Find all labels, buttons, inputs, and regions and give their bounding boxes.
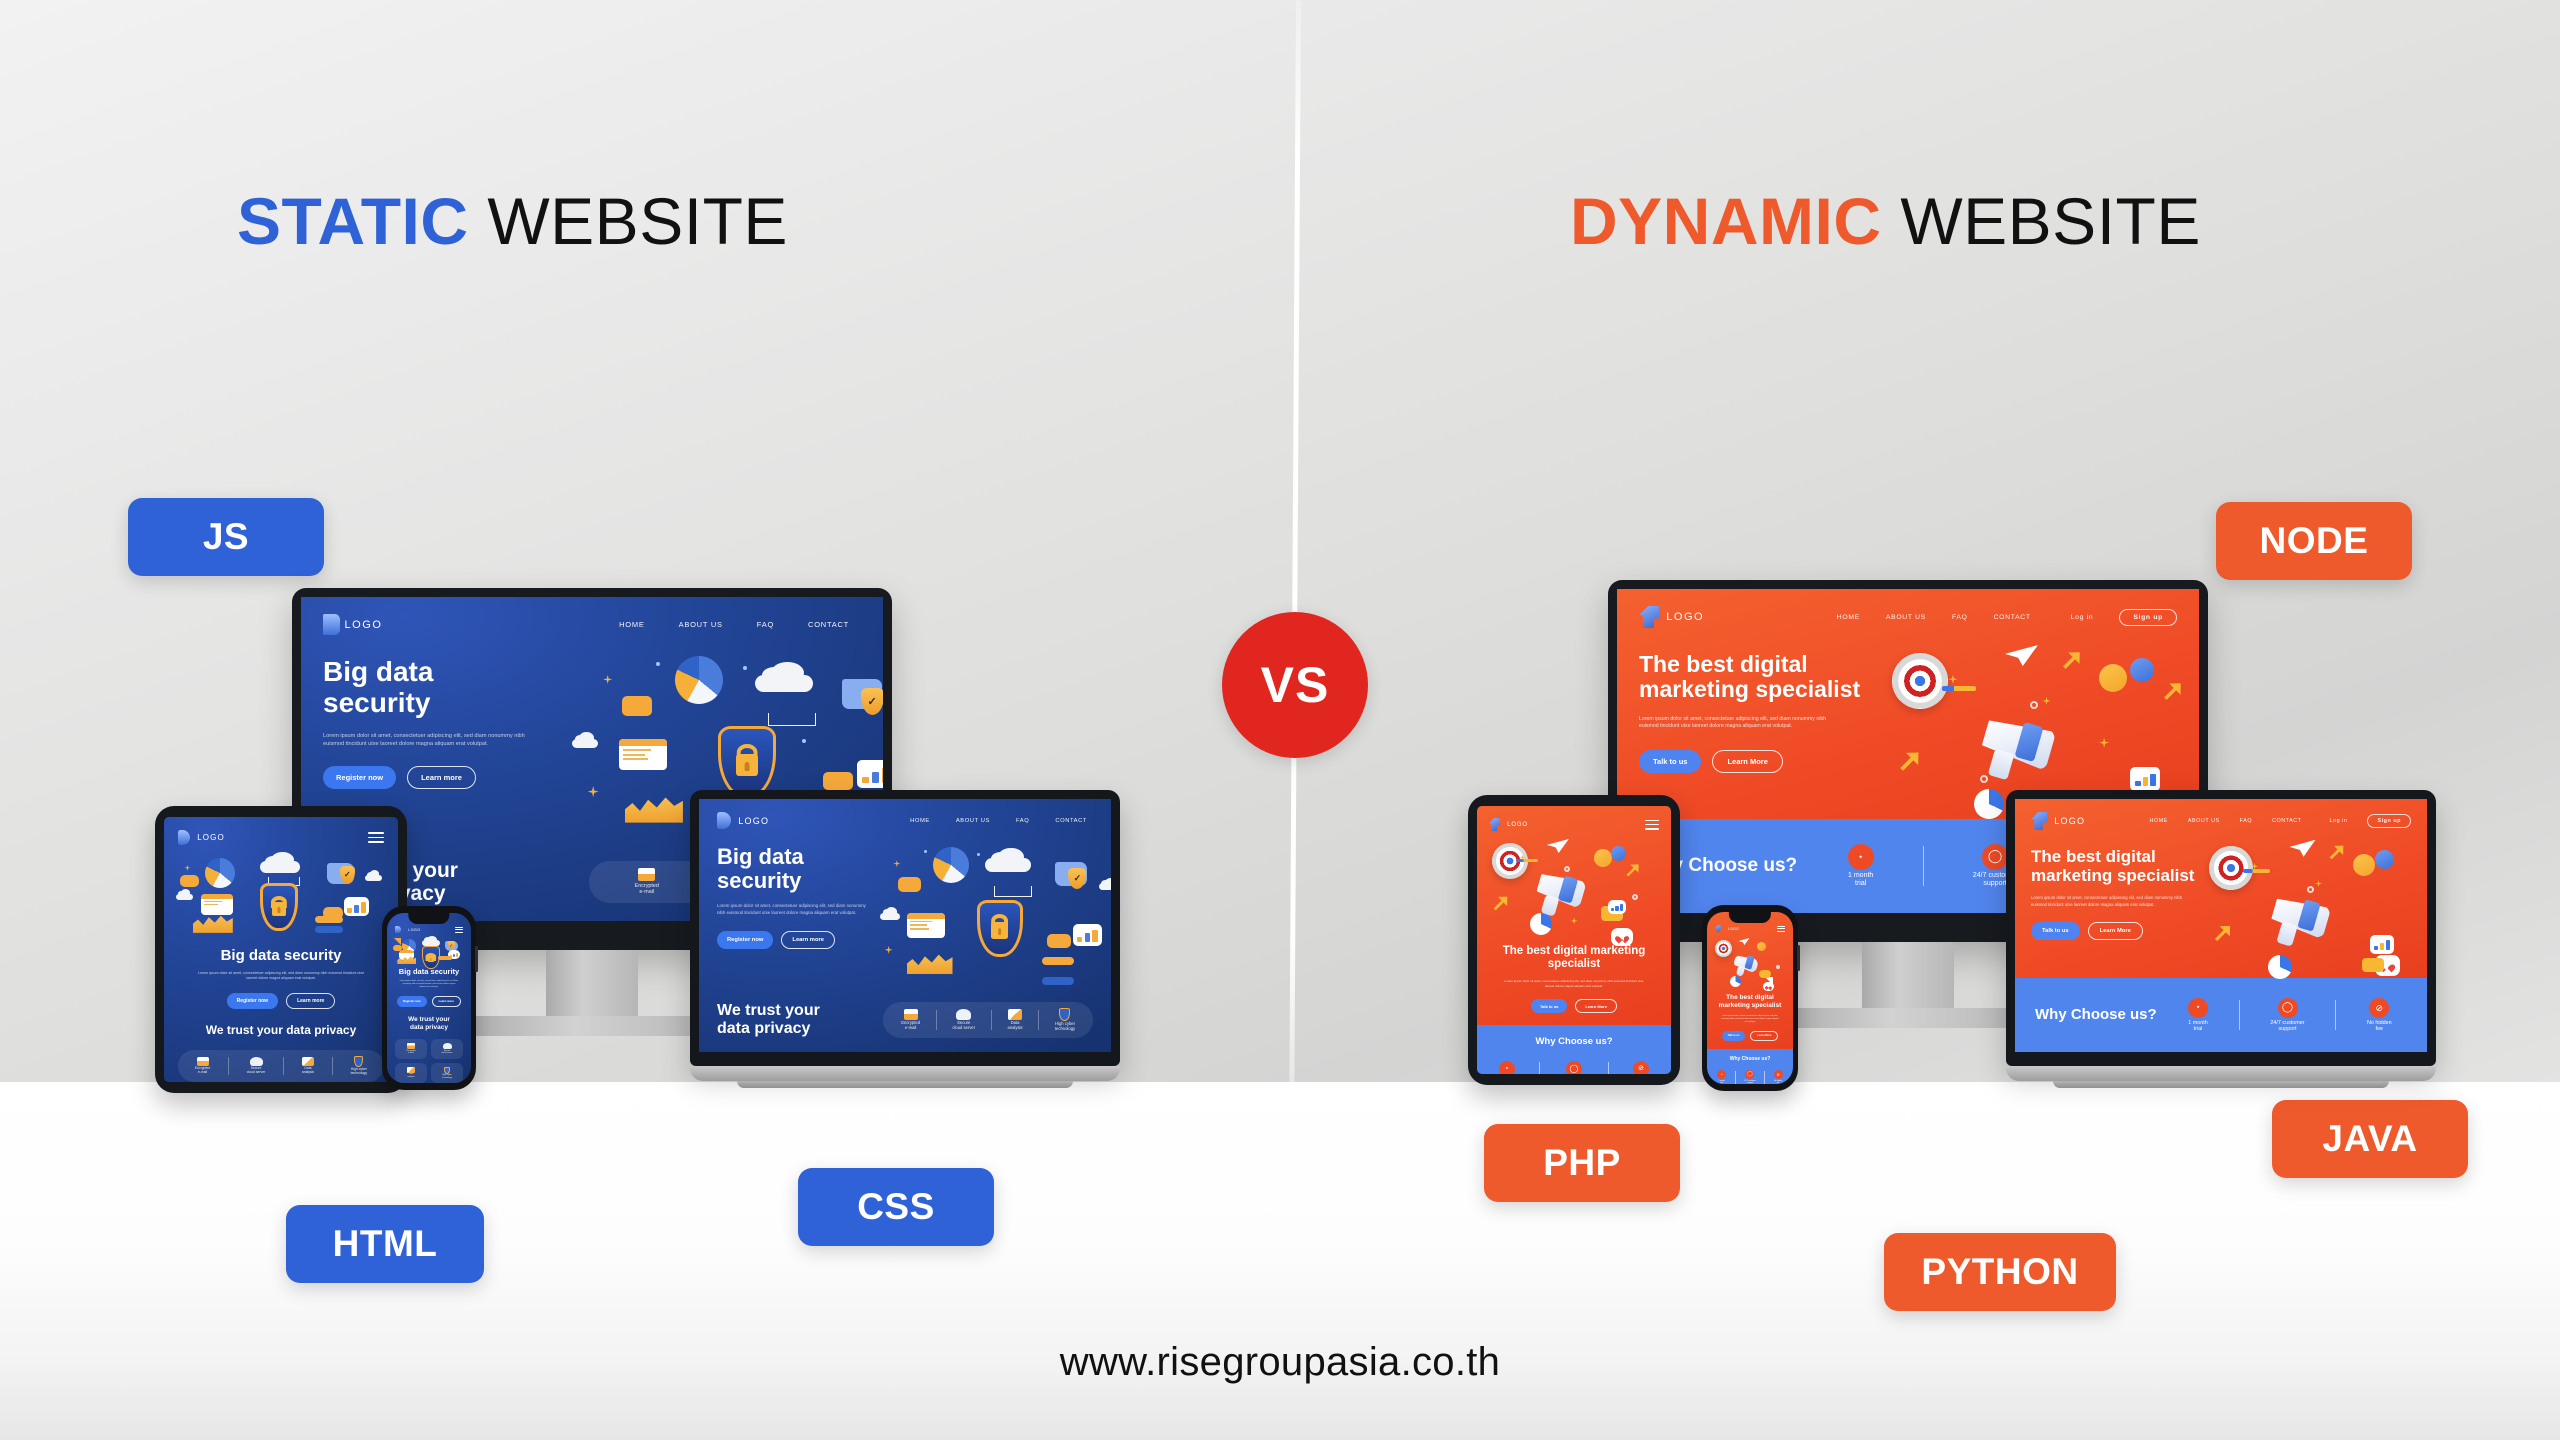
sub-headline: We trust your data privacy (717, 1002, 867, 1037)
hero-headline-line2: security (323, 688, 563, 719)
nav-item-faq[interactable]: FAQ (2240, 818, 2252, 824)
paper-plane-icon (1547, 839, 1569, 853)
feature-separator (991, 1010, 992, 1031)
chat-bubble-icon (180, 875, 199, 887)
nav-item-about-us[interactable]: ABOUT US (679, 620, 723, 629)
bar-chart-icon (1608, 900, 1626, 914)
arrow-icon-3 (2209, 919, 2237, 947)
hero-headline: The best digital marketing specialist (2031, 848, 2205, 885)
brand-logo[interactable]: LOGO (717, 812, 769, 829)
static-tablet-screen[interactable]: LOGO ✓ (164, 817, 398, 1082)
dynamic-desktop-nav: LOGO HOME ABOUT US FAQ CONTACT Log in Si… (1617, 589, 2199, 628)
no-fee-icon: ⊘ (2369, 998, 2389, 1018)
tech-pill-python[interactable]: PYTHON (1884, 1233, 2116, 1311)
infographic-stage: STATIC WEBSITE DYNAMIC WEBSITE VS JS HTM… (0, 0, 2560, 1440)
feature-customer-support-line2: support (1983, 880, 2006, 887)
tech-pill-php-label: PHP (1543, 1142, 1621, 1184)
cloud-icon (260, 861, 300, 873)
cta-talk-to-us-label: Talk to us (1540, 1004, 1558, 1009)
cta-learn-more[interactable]: Learn more (286, 993, 335, 1009)
static-laptop-hero-copy: Big data security Lorem ipsum dolor sit … (699, 829, 880, 1002)
feature-high-cyber-technology: High cybertechnology (351, 1056, 367, 1076)
phone-side-button[interactable] (1797, 945, 1800, 971)
headset-icon: ◯ (1566, 1061, 1582, 1074)
static-desktop-nav: LOGO HOME ABOUT US FAQ CONTACT (301, 597, 883, 635)
chat-bubble-yellow-icon (1757, 942, 1766, 951)
dot-icon-2 (977, 853, 980, 856)
target-dartboard-icon (1892, 653, 1948, 709)
feature-high-cyber-technology-line2: technology (351, 1071, 367, 1075)
hero-headline: Big data security (717, 845, 880, 893)
sparkle-icon-1 (603, 675, 612, 684)
cloud-icon (985, 858, 1031, 872)
paper-plane-icon (1738, 938, 1749, 945)
logo-arrow-icon (1639, 606, 1659, 628)
feature-one-month-trial-line2: trial (2194, 1026, 2203, 1032)
headset-icon: ◯ (2278, 998, 2298, 1018)
page-title-static-rest: WEBSITE (469, 184, 788, 258)
arrow-icon-1 (2057, 644, 2088, 675)
tech-pill-python-label: PYTHON (1921, 1251, 2078, 1293)
laptop-lid: LOGO HOME ABOUT US FAQ CONTACT Big dat (690, 790, 1120, 1066)
tech-pill-java[interactable]: JAVA (2272, 1100, 2468, 1178)
heart-icon (1617, 933, 1627, 941)
hamburger-menu-icon[interactable] (1645, 820, 1659, 830)
logo-text: LOGO (1666, 611, 1704, 623)
nav-signup-label: Sign up (2377, 818, 2401, 824)
nav-item-home[interactable]: HOME (2150, 818, 2168, 824)
static-desktop-nav-links: HOME ABOUT US FAQ CONTACT (619, 620, 861, 629)
envelope-icon (2362, 958, 2384, 972)
megaphone-icon (1967, 712, 2059, 784)
brand-logo[interactable]: LOGO (1715, 925, 1739, 932)
big-data-security-illustration: ✓ (176, 853, 386, 938)
phone-frame: LOGO (1702, 905, 1798, 1091)
cloud-server-icon (956, 1009, 971, 1020)
chat-bubble-yellow-icon (2353, 854, 2375, 876)
chart-card-icon (1073, 924, 1102, 946)
logo-text: LOGO (738, 816, 769, 826)
lock-shield-icon (260, 883, 298, 931)
big-data-security-illustration: ✓ (393, 938, 465, 962)
megaphone-icon (1526, 868, 1588, 918)
sub-headline: We trust your data privacy (164, 1024, 398, 1037)
chat-bubble-right-icon (1047, 934, 1071, 948)
cta-talk-to-us[interactable]: Talk to us (1531, 999, 1567, 1013)
dynamic-laptop-nav-links: HOME ABOUT US FAQ CONTACT Log in Sign up (2150, 814, 2411, 828)
laptop-lid: LOGO HOME ABOUT US FAQ CONTACT Log in Si… (2006, 790, 2436, 1066)
server-rack-icon-1 (438, 956, 452, 960)
hero-paragraph: Lorem ipsum dolor sit amet, consectetuer… (399, 980, 459, 989)
feature-high-cyber-technology: High cybertechnology (431, 1063, 463, 1083)
feature-encrypted-email-line1: Encrypted (635, 883, 659, 889)
chat-bubble-yellow-icon (1594, 849, 1612, 867)
hero-paragraph: Lorem ipsum dolor sit amet, consectetuer… (1639, 716, 1845, 732)
hero-headline-line2: marketing specialist (2031, 867, 2205, 886)
nav-item-faq[interactable]: FAQ (1952, 614, 1968, 621)
tablet-frame: LOGO (1468, 795, 1680, 1085)
hamburger-menu-icon[interactable] (368, 832, 384, 843)
brand-logo[interactable]: LOGO (178, 830, 225, 845)
cta-learn-more[interactable]: Learn more (407, 766, 476, 789)
hero-headline: Big data security (323, 657, 563, 719)
arrow-icon-3 (1489, 890, 1514, 915)
feature-data-analysis: Dataanalysis (302, 1057, 314, 1075)
ring-icon-2 (1980, 775, 1988, 783)
cta-register-now-label: Register now (237, 998, 268, 1004)
chat-bubble-right-icon (823, 772, 853, 790)
static-laptop-nav: LOGO HOME ABOUT US FAQ CONTACT (699, 799, 1111, 829)
dart-icon (2243, 869, 2270, 873)
feature-separator (2335, 1000, 2336, 1031)
nav-item-contact[interactable]: CONTACT (1055, 818, 1087, 824)
feature-secure-cloud-server-line2: cloud server (442, 1052, 453, 1054)
cta-learn-more-label: Learn more (792, 937, 824, 943)
logo-text: LOGO (1507, 822, 1528, 828)
hero-paragraph: Lorem ipsum dolor sit amet, consectetuer… (1503, 979, 1645, 988)
nav-item-home[interactable]: HOME (1837, 614, 1860, 621)
why-choose-us-heading: Why Choose us? (2035, 1007, 2157, 1024)
pie-chart-icon (675, 656, 723, 704)
static-phone-page: LOGO ✓ (387, 913, 471, 1083)
tech-pill-html[interactable]: HTML (286, 1205, 484, 1283)
cta-talk-to-us-label: Talk to us (1728, 1034, 1740, 1037)
shield-check-icon: ✓ (861, 688, 883, 715)
feature-separator (1608, 1062, 1609, 1074)
feature-customer-support-line1: 24/7 customer (2270, 1020, 2304, 1026)
dynamic-laptop-page: LOGO HOME ABOUT US FAQ CONTACT Log in Si… (2015, 799, 2427, 1052)
cta-register-now-label: Register now (336, 773, 383, 782)
sub-headline-line1: We trust your (387, 1016, 471, 1024)
cta-register-now[interactable]: Register now (397, 996, 427, 1007)
vs-badge: VS (1222, 612, 1368, 758)
cta-learn-more[interactable]: Learn More (1750, 1031, 1778, 1041)
tech-pill-php[interactable]: PHP (1484, 1124, 1680, 1202)
nav-signup-button[interactable]: Sign up (2367, 814, 2411, 828)
dynamic-phone: LOGO (1702, 905, 1798, 1091)
server-rack-icon-2 (1042, 977, 1074, 985)
dynamic-desktop-hero-copy: The best digital marketing specialist Lo… (1617, 628, 1873, 819)
window-card-icon (619, 739, 667, 770)
bar-chart-icon (1073, 924, 1102, 946)
big-data-security-illustration: ✓ (880, 837, 1099, 1002)
tech-pill-node[interactable]: NODE (2216, 502, 2412, 580)
envelope-icon (407, 1043, 415, 1049)
tech-pill-html-label: HTML (333, 1223, 438, 1265)
shield-icon (444, 1067, 450, 1074)
cloud-icon (422, 940, 440, 946)
brand-logo[interactable]: LOGO (1639, 606, 1704, 628)
tech-pill-js-label: JS (203, 516, 249, 558)
monitor-neck (1862, 942, 1954, 1008)
ring-icon-1 (1776, 965, 1780, 969)
cta-register-now[interactable]: Register now (323, 766, 396, 789)
cta-learn-more-label: Learn More (1585, 1004, 1607, 1009)
arrow-icon-2 (2157, 676, 2188, 707)
static-phone: LOGO ✓ (382, 906, 476, 1090)
static-laptop-nav-links: HOME ABOUT US FAQ CONTACT (910, 818, 1093, 824)
phone-notch (408, 913, 449, 924)
tech-pill-node-label: NODE (2260, 520, 2369, 562)
phone-side-button[interactable] (475, 946, 478, 972)
brand-logo[interactable]: LOGO (2031, 812, 2085, 830)
tech-pill-css[interactable]: CSS (798, 1168, 994, 1246)
feature-separator (283, 1057, 284, 1074)
cta-learn-more[interactable]: Learn more (781, 931, 835, 949)
cta-learn-more-label: Learn More (1757, 1034, 1771, 1037)
ring-icon-1 (2307, 886, 2314, 893)
logo-d-icon (178, 830, 190, 845)
static-tablet-nav: LOGO (164, 817, 398, 845)
pie-chart-icon (933, 847, 969, 883)
pie-chart-icon (1530, 913, 1552, 935)
logo-arrow-icon (1489, 818, 1500, 831)
like-heart-card-icon (1611, 928, 1633, 946)
why-choose-us-band: Why Choose us? ★ 1 monthtrial ◯ 24/7 cus… (1707, 1049, 1793, 1084)
feature-separator (1764, 1071, 1765, 1084)
page-title-dynamic: DYNAMIC WEBSITE (1570, 183, 2201, 259)
envelope-icon (638, 868, 655, 881)
page-title-dynamic-rest: WEBSITE (1882, 184, 2201, 258)
feature-one-month-trial: ★ 1 monthtrial (2188, 998, 2208, 1032)
cta-talk-to-us-label: Talk to us (2042, 928, 2069, 934)
logo-text: LOGO (345, 619, 383, 631)
cta-learn-more[interactable]: Learn More (2088, 922, 2143, 940)
bar-chart-icon (2130, 767, 2160, 791)
feature-data-analysis: Dataanalysis (1007, 1009, 1022, 1031)
hero-paragraph: Lorem ipsum dolor sit amet, consectetuer… (323, 732, 544, 749)
why-choose-us-heading: Why Choose us? (1713, 1057, 1787, 1063)
padlock-icon (991, 922, 1008, 939)
feature-one-month-trial: ★ 1 monthtrial (1848, 844, 1874, 888)
data-analysis-icon (302, 1057, 314, 1066)
cta-register-now[interactable]: Register now (717, 931, 773, 949)
feature-customer-support: ◯ 24/7 customersupport (1744, 1070, 1755, 1084)
cta-learn-more-label: Learn More (2100, 928, 2131, 934)
sub-headline-line2: data privacy (717, 1020, 867, 1038)
bar-chart-icon (2370, 935, 2394, 954)
page-title-static: STATIC WEBSITE (237, 183, 788, 259)
tech-pill-js[interactable]: JS (128, 498, 324, 576)
dynamic-tablet-screen[interactable]: LOGO (1477, 806, 1671, 1074)
cta-register-now[interactable]: Register now (227, 993, 278, 1009)
cta-learn-more[interactable]: Learn More (1575, 999, 1617, 1013)
cta-learn-more-label: Learn more (297, 998, 324, 1004)
arrow-icon-1 (1622, 859, 1645, 882)
dynamic-laptop-hero-copy: The best digital marketing specialist Lo… (2015, 830, 2205, 978)
free-trial-badge-icon: ★ (1717, 1070, 1726, 1079)
cta-learn-more[interactable]: Learn More (1712, 750, 1782, 773)
cloud-small-icon (365, 875, 382, 881)
feature-encrypted-email-line2: e-mail (639, 889, 654, 895)
static-laptop-screen[interactable]: LOGO HOME ABOUT US FAQ CONTACT Big dat (699, 799, 1111, 1052)
window-card-icon (201, 894, 233, 915)
sparkle-icon-3 (2099, 738, 2109, 748)
cloud-left-icon (572, 739, 598, 748)
like-heart-card-icon (1763, 982, 1774, 991)
feature-one-month-trial-line2: trial (1720, 1082, 1723, 1084)
dynamic-laptop: LOGO HOME ABOUT US FAQ CONTACT Log in Si… (2006, 790, 2436, 1088)
nav-item-home[interactable]: HOME (910, 818, 930, 824)
headset-icon: ◯ (1745, 1070, 1754, 1079)
hero-headline-line1: The best digital (1639, 652, 1873, 677)
pie-chart-icon (205, 858, 235, 888)
sparkle-icon-1 (1948, 675, 1957, 684)
feature-encrypted-email-line2: e-mail (198, 1070, 207, 1074)
nav-item-contact[interactable]: CONTACT (2272, 818, 2301, 824)
chat-bubble-blue-icon (1611, 846, 1626, 861)
feature-encrypted-email-line2: e-mail (905, 1025, 916, 1030)
hero-paragraph: Lorem ipsum dolor sit amet, consectetuer… (2031, 895, 2187, 908)
static-phone-screen[interactable]: LOGO ✓ (387, 913, 471, 1083)
cta-register-now-label: Register now (403, 999, 421, 1003)
ring-icon-1 (2030, 701, 2038, 709)
laptop-base (690, 1066, 1120, 1081)
server-rack-icon-1 (315, 916, 343, 923)
envelope-icon (1759, 970, 1771, 978)
sub-headline-line2: data privacy (387, 1024, 471, 1032)
server-rack-icon-2 (315, 926, 343, 933)
cloud-left-icon (176, 894, 193, 900)
hamburger-menu-icon[interactable] (1777, 926, 1785, 932)
static-tablet-feature-strip: Encryptede-mail Securecloud server Dataa… (178, 1050, 384, 1082)
feature-separator (2239, 1000, 2240, 1031)
sparkle-icon-2 (588, 786, 599, 797)
brand-logo[interactable]: LOGO (395, 926, 421, 933)
feature-high-cyber-technology-line2: technology (442, 1077, 452, 1079)
feature-encrypted-email: Encryptede-mail (395, 1039, 427, 1058)
nav-item-home[interactable]: HOME (619, 620, 645, 629)
hero-headline-line1: Big data (717, 845, 880, 869)
nav-item-faq[interactable]: FAQ (1016, 818, 1029, 824)
dynamic-laptop-screen[interactable]: LOGO HOME ABOUT US FAQ CONTACT Log in Si… (2015, 799, 2427, 1052)
hero-headline: The best digital marketing specialist (1477, 945, 1671, 970)
data-analysis-icon (407, 1067, 415, 1073)
laptop-base-lip (2053, 1081, 2388, 1088)
feature-encrypted-email: Encryptede-mail (195, 1057, 210, 1075)
static-laptop-page: LOGO HOME ABOUT US FAQ CONTACT Big dat (699, 799, 1111, 1052)
nav-signup-button[interactable]: Sign up (2119, 609, 2177, 626)
dynamic-tablet-nav: LOGO (1477, 806, 1671, 831)
feature-data-analysis-line2: analysis (407, 1076, 414, 1078)
padlock-icon (736, 754, 758, 776)
cta-talk-to-us[interactable]: Talk to us (1722, 1031, 1746, 1041)
dynamic-phone-hero: LOGO (1707, 912, 1793, 1049)
bar-chart-icon (857, 760, 883, 788)
tablet-frame: LOGO ✓ (155, 806, 407, 1093)
feature-one-month-trial-line1: 1 month (1848, 872, 1873, 879)
free-trial-badge-icon: ★ (1499, 1061, 1515, 1074)
analytics-card-icon (2370, 935, 2394, 954)
logo-arrow-icon (1715, 925, 1721, 932)
nav-item-faq[interactable]: FAQ (757, 620, 774, 629)
heart-icon (1766, 985, 1771, 989)
nav-item-about-us[interactable]: ABOUT US (956, 818, 990, 824)
nav-item-contact[interactable]: CONTACT (1994, 614, 2031, 621)
feature-customer-support: ◯ 24/7 customersupport (2270, 998, 2304, 1032)
dynamic-tablet: LOGO (1468, 795, 1680, 1085)
hero-headline: The best digital marketing specialist (1639, 652, 1873, 703)
nav-signup-label: Sign up (2133, 614, 2163, 621)
chat-bubble-icon (898, 877, 921, 892)
dart-icon (1942, 686, 1976, 691)
feature-separator (936, 1010, 937, 1031)
feature-data-analysis-line2: analysis (1007, 1025, 1022, 1030)
phone-frame: LOGO ✓ (382, 906, 476, 1090)
area-chart-icon (907, 952, 953, 974)
server-rack-icon-1 (1042, 957, 1074, 965)
megaphone-handle (2276, 922, 2298, 948)
brand-logo[interactable]: LOGO (323, 614, 382, 635)
brand-logo[interactable]: LOGO (1489, 818, 1528, 831)
feature-customer-support: ◯ 24/7 customersupport (1564, 1061, 1584, 1074)
feature-data-analysis: Dataanalysis (395, 1063, 427, 1083)
logo-d-icon (323, 614, 340, 635)
hero-paragraph: Lorem ipsum dolor sit amet, consectetuer… (717, 903, 870, 916)
feature-secure-cloud-server: Securecloud server (247, 1057, 265, 1075)
static-laptop: LOGO HOME ABOUT US FAQ CONTACT Big dat (690, 790, 1120, 1088)
padlock-icon (272, 902, 286, 916)
megaphone-icon (2260, 892, 2334, 950)
tech-pill-css-label: CSS (857, 1186, 935, 1228)
nav-item-about-us[interactable]: ABOUT US (1886, 614, 1926, 621)
feature-no-hidden-fee: ⊘ No hiddenfee (2367, 998, 2392, 1032)
dot-icon-1 (656, 662, 660, 666)
analytics-card-icon (2130, 767, 2160, 791)
dynamic-phone-screen[interactable]: LOGO (1707, 912, 1793, 1084)
dynamic-tablet-hero: LOGO (1477, 806, 1671, 1025)
chat-bubble-icon (622, 696, 652, 716)
sparkle-icon-2 (2315, 880, 2322, 887)
logo-text: LOGO (408, 928, 420, 932)
cta-talk-to-us[interactable]: Talk to us (2031, 922, 2080, 940)
feature-separator (228, 1057, 229, 1074)
dot-icon-2 (743, 666, 747, 670)
feature-no-hidden-fee: ⊘ No hiddenfee (1633, 1061, 1649, 1074)
cta-learn-more[interactable]: Learn more (432, 996, 461, 1007)
feature-data-analysis-line2: analysis (302, 1070, 314, 1074)
feature-one-month-trial-line2: trial (1855, 880, 1866, 887)
arrow-icon-3 (1893, 744, 1927, 778)
hero-headline-line2: marketing specialist (1639, 677, 1873, 702)
cloud-small-icon (1099, 883, 1111, 890)
nav-item-about-us[interactable]: ABOUT US (2188, 818, 2220, 824)
megaphone-handle (1988, 749, 2015, 781)
nav-item-contact[interactable]: CONTACT (808, 620, 849, 629)
data-analysis-icon (1008, 1009, 1022, 1020)
no-fee-icon: ⊘ (1774, 1070, 1783, 1079)
cloud-connector-icon (994, 886, 1032, 897)
bar-chart-icon (344, 897, 369, 916)
site-url: www.risegroupasia.co.th (0, 1340, 2560, 1385)
monitor-neck (546, 950, 638, 1016)
logo-text: LOGO (2054, 816, 2085, 826)
sparkle-icon-1 (893, 860, 900, 867)
hamburger-menu-icon[interactable] (455, 927, 463, 933)
nav-item-login[interactable]: Log in (2330, 818, 2348, 824)
feature-customer-support-line2: support (2279, 1026, 2297, 1032)
feature-high-cyber-technology: High cybertechnology (1055, 1008, 1075, 1032)
nav-item-login[interactable]: Log in (2071, 614, 2094, 621)
laptop-base (2006, 1066, 2436, 1081)
feature-separator (1923, 846, 1924, 886)
free-trial-badge-icon: ★ (1848, 844, 1874, 870)
chart-card-icon (857, 760, 883, 788)
dot-icon-1 (924, 850, 927, 853)
cta-talk-to-us[interactable]: Talk to us (1639, 750, 1701, 773)
feature-no-hidden-fee-line2: fee (2376, 1026, 2384, 1032)
target-dartboard-icon (2209, 846, 2253, 890)
